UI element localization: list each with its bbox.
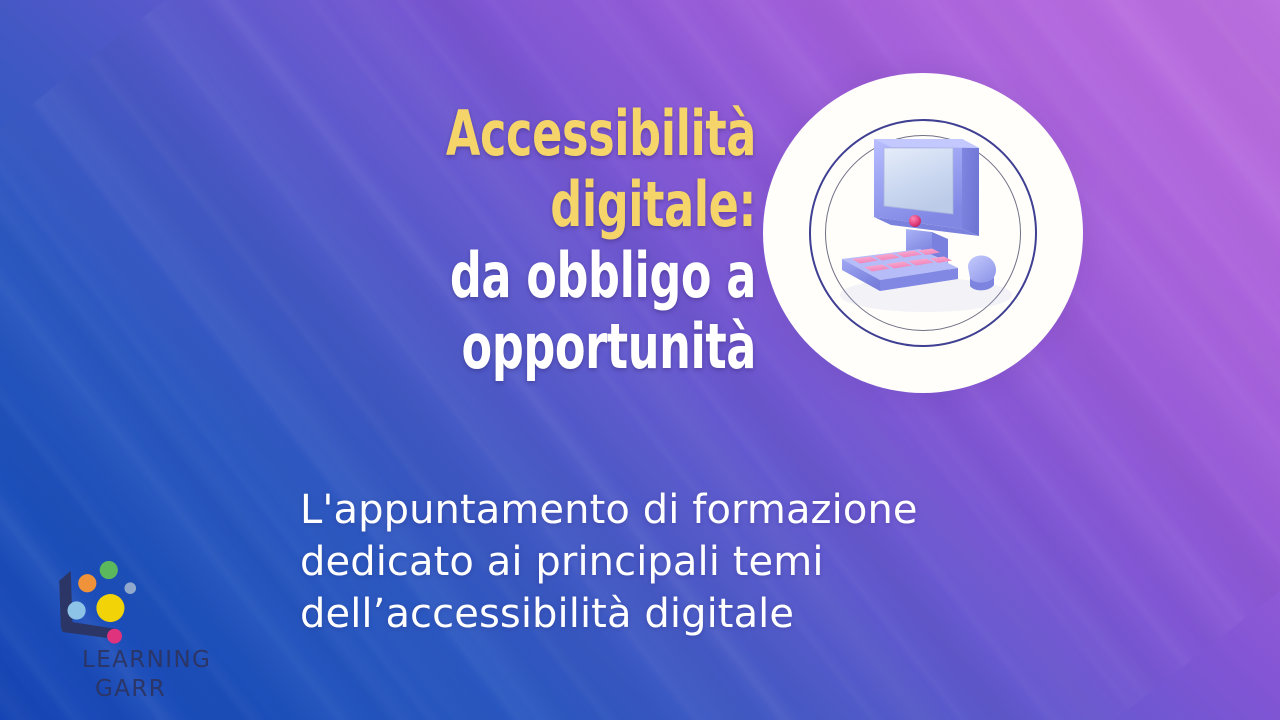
subtitle: L'appuntamento di formazione dedicato ai… xyxy=(300,484,1060,640)
logo-dot-yellow xyxy=(96,594,124,622)
logo-dot-steel-blue xyxy=(124,582,136,594)
logo-word-garr: GARR xyxy=(82,675,211,704)
monitor-led-icon xyxy=(909,215,921,227)
page-title: Accessibilità digitale: da obbligo a opp… xyxy=(300,98,756,382)
subtitle-line-2: dedicato ai principali temi xyxy=(300,536,1060,588)
title-line-2: digitale: xyxy=(391,169,756,240)
title-line-3: da obbligo a xyxy=(391,240,756,311)
title-line-4: opportunità xyxy=(391,311,756,382)
desktop-computer-icon xyxy=(808,117,1038,347)
subtitle-line-1: L'appuntamento di formazione xyxy=(300,484,1060,536)
badge-circle xyxy=(763,73,1083,393)
learning-garr-logo: LEARNING GARR xyxy=(40,556,220,706)
logo-dot-pink xyxy=(107,629,122,644)
subtitle-line-3: dell’accessibilità digitale xyxy=(300,588,1060,640)
logo-dot-orange xyxy=(78,574,96,592)
logo-mark-icon xyxy=(40,556,185,651)
logo-dot-green xyxy=(100,561,118,579)
logo-wordmark: LEARNING GARR xyxy=(82,646,211,704)
mouse-icon xyxy=(968,255,996,290)
slide-root: Accessibilità digitale: da obbligo a opp… xyxy=(0,0,1280,720)
logo-dot-light-blue xyxy=(67,601,85,619)
title-line-1: Accessibilità xyxy=(391,98,756,169)
logo-word-learning: LEARNING xyxy=(82,646,211,675)
